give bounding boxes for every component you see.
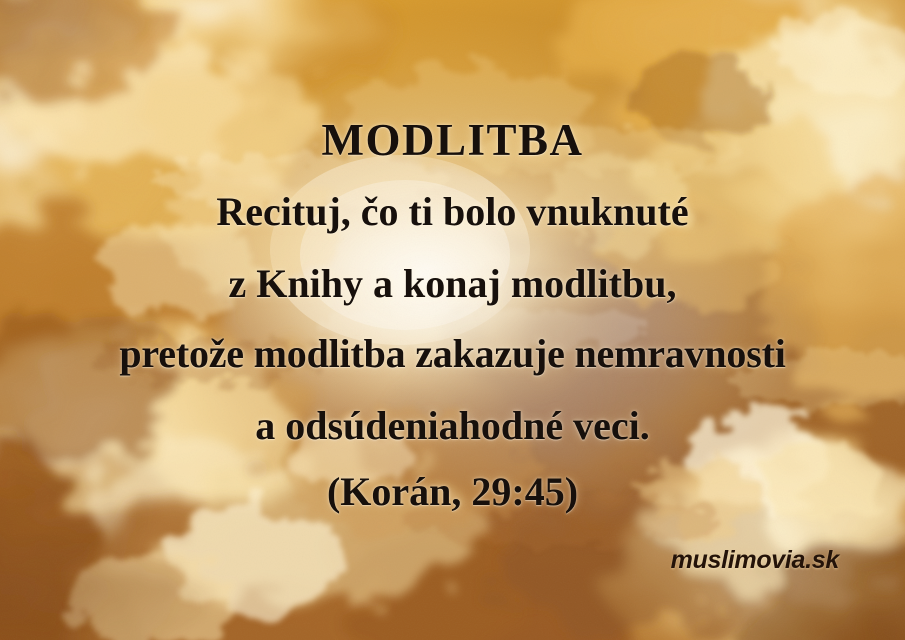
cloud-sky-background (0, 0, 905, 640)
site-watermark: muslimovia.sk (671, 546, 839, 575)
quote-image: MODLITBA Recituj, čo ti bolo vnuknuté z … (0, 0, 905, 640)
